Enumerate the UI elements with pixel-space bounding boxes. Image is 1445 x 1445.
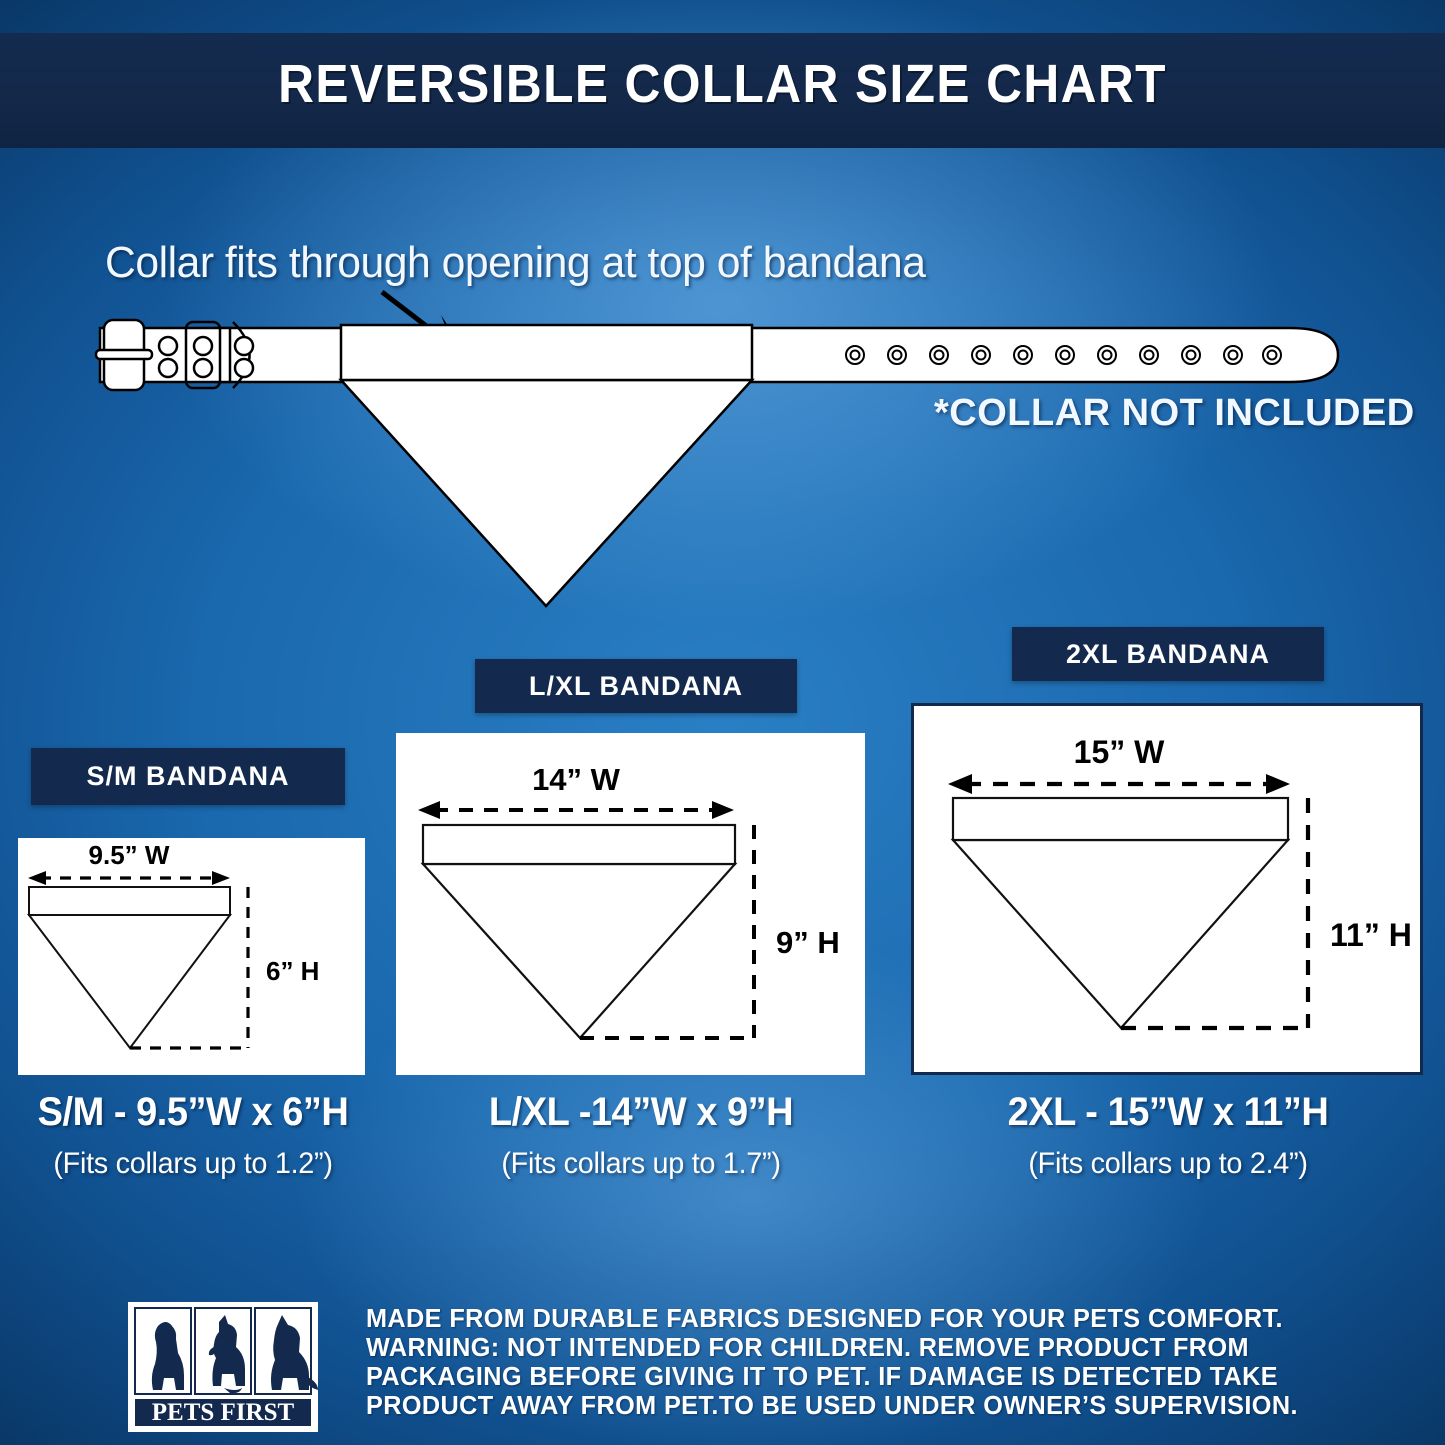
height-label-2xl: 11” H xyxy=(1330,917,1412,953)
disclaimer-line-3: PACKAGING BEFORE GIVING IT TO PET. IF DA… xyxy=(366,1363,1356,1392)
width-dimension-2xl: 15” W xyxy=(948,734,1290,794)
size-label-lxl: L/XL BANDANA xyxy=(475,659,797,713)
size-chart-infographic: REVERSIBLE COLLAR SIZE CHART Collar fits… xyxy=(0,0,1445,1445)
disclaimer-line-1: MADE FROM DURABLE FABRICS DESIGNED FOR Y… xyxy=(366,1305,1356,1334)
height-label-lxl: 9” H xyxy=(776,925,840,960)
three-dog-silhouettes-icon xyxy=(135,1308,318,1394)
caption-sm-sub: (Fits collars up to 1.2”) xyxy=(8,1147,379,1181)
brand-name: PETS FIRST xyxy=(152,1399,295,1426)
caption-lxl: L/XL -14”W x 9”H (Fits collars up to 1.7… xyxy=(448,1090,834,1181)
width-label-lxl: 14” W xyxy=(532,762,621,797)
bandana-shape xyxy=(341,325,752,606)
caption-lxl-main: L/XL -14”W x 9”H xyxy=(458,1090,825,1135)
caption-2xl-sub: (Fits collars up to 2.4”) xyxy=(983,1147,1354,1181)
caption-sm: S/M - 9.5”W x 6”H (Fits collars up to 1.… xyxy=(0,1090,386,1181)
size-panel-2xl: 15” W 11” H xyxy=(911,703,1423,1075)
size-label-2xl: 2XL BANDANA xyxy=(1012,627,1324,681)
collar-bandana-illustration xyxy=(0,270,1445,630)
size-panel-sm: 9.5” W 6” H xyxy=(18,838,365,1075)
size-panel-lxl: 14” W 9” H xyxy=(396,733,865,1075)
width-label-2xl: 15” W xyxy=(1074,734,1165,770)
disclaimer-line-4: PRODUCT AWAY FROM PET.TO BE USED UNDER O… xyxy=(366,1392,1356,1421)
legal-disclaimer: MADE FROM DURABLE FABRICS DESIGNED FOR Y… xyxy=(366,1305,1366,1421)
pets-first-logo: PETS FIRST xyxy=(128,1302,318,1432)
page-title: REVERSIBLE COLLAR SIZE CHART xyxy=(58,53,1387,115)
width-dimension-sm: 9.5” W xyxy=(28,840,230,885)
disclaimer-line-2: WARNING: NOT INTENDED FOR CHILDREN. REMO… xyxy=(366,1334,1356,1363)
caption-2xl: 2XL - 15”W x 11”H (Fits collars up to 2.… xyxy=(975,1090,1361,1181)
caption-lxl-sub: (Fits collars up to 1.7”) xyxy=(456,1147,827,1181)
bandana-sleeve-opening xyxy=(341,325,752,380)
caption-2xl-main: 2XL - 15”W x 11”H xyxy=(985,1090,1352,1135)
caption-sm-main: S/M - 9.5”W x 6”H xyxy=(10,1090,377,1135)
size-label-sm: S/M BANDANA xyxy=(31,748,345,805)
height-label-sm: 6” H xyxy=(266,956,319,986)
width-dimension-lxl: 14” W xyxy=(418,762,734,819)
width-label-sm: 9.5” W xyxy=(89,840,170,870)
